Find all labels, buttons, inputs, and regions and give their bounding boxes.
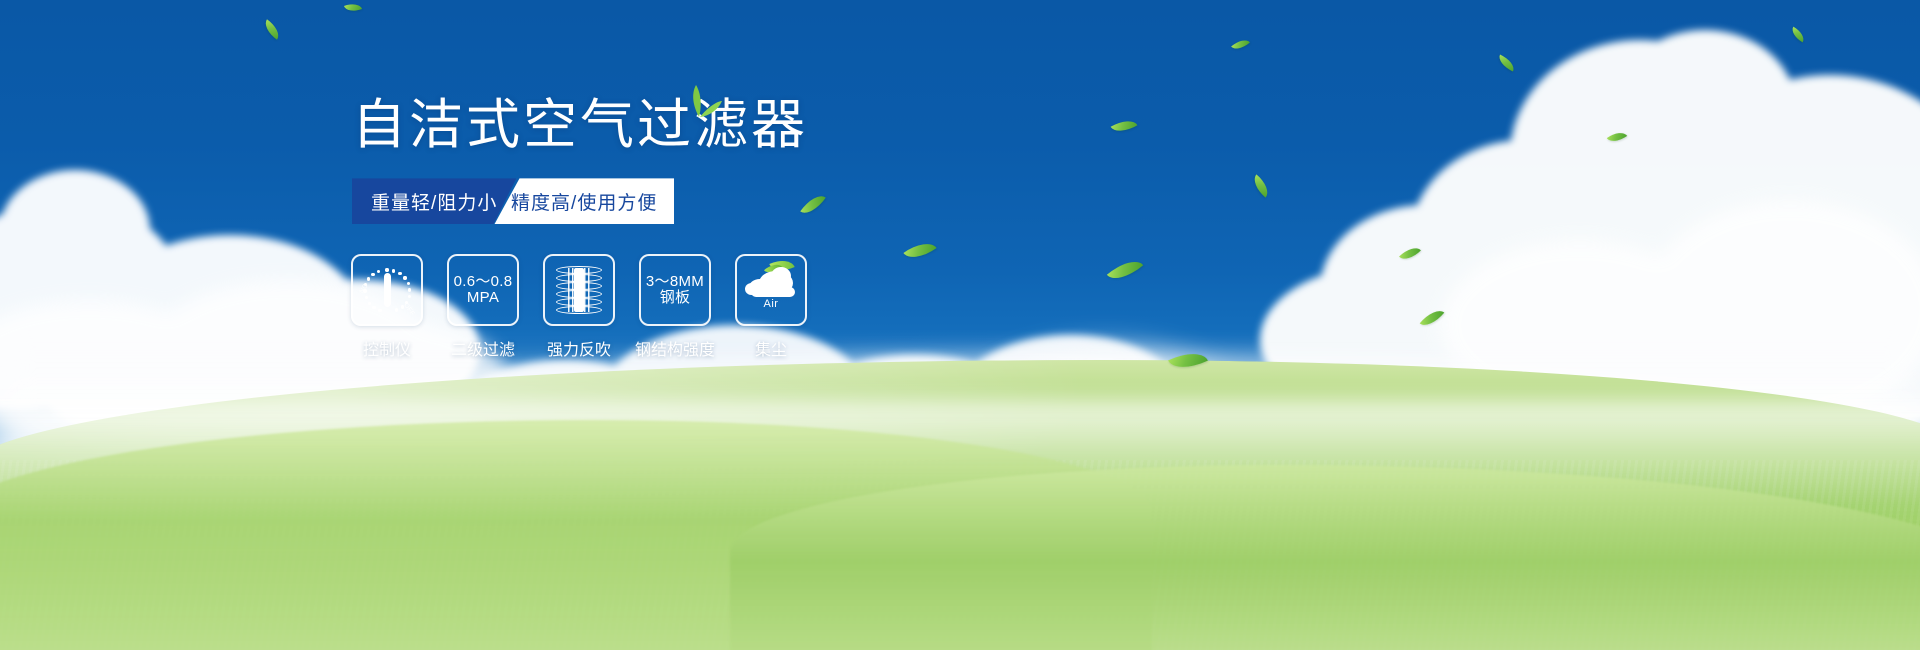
steel-value-line1: 3～8MM [646, 274, 704, 291]
feature-item-dust[interactable]: Air 集尘 [736, 254, 806, 360]
tagline-tabs: 重量轻/阻力小 精度高/使用方便 [352, 178, 674, 224]
feature-caption: 强力反吹 [547, 336, 611, 360]
banner-content: 自洁式空气过滤器 重量轻/阻力小 精度高/使用方便 [352, 96, 1072, 360]
feature-icon-box: 3～8MM 钢板 [639, 254, 711, 326]
tab-lightweight[interactable]: 重量轻/阻力小 [352, 178, 516, 224]
feature-caption: 二级过滤 [451, 336, 515, 360]
feature-caption: 控制仪 [363, 336, 411, 360]
feature-icon-box [543, 254, 615, 326]
feature-item-control[interactable]: NO OFF 控制仪 [352, 254, 422, 360]
feature-icon-box: NO OFF [351, 254, 423, 326]
feature-caption: 钢结构强度 [635, 336, 715, 360]
filter-cartridge-icon [556, 266, 602, 314]
pressure-value-line2: MPA [467, 290, 499, 307]
feature-caption: 集尘 [755, 336, 787, 360]
feature-icon-box: 0.6～0.8 MPA [447, 254, 519, 326]
feature-item-steel[interactable]: 3～8MM 钢板 钢结构强度 [640, 254, 710, 360]
tab-precision[interactable]: 精度高/使用方便 [494, 178, 674, 224]
pressure-value-line1: 0.6～0.8 [454, 274, 513, 291]
feature-list: NO OFF 控制仪 0.6～0.8 MPA 二级过滤 [352, 254, 1072, 360]
steel-value-line2: 钢板 [660, 290, 691, 307]
air-cloud-icon: Air [743, 267, 799, 313]
feature-item-blowback[interactable]: 强力反吹 [544, 254, 614, 360]
air-label: Air [764, 298, 779, 310]
feature-icon-box: Air [735, 254, 807, 326]
hero-banner: 自洁式空气过滤器 重量轻/阻力小 精度高/使用方便 [0, 0, 1920, 650]
gauge-icon: NO OFF [361, 264, 413, 316]
grass-hill-right [730, 465, 1920, 650]
title-leaf-icon [677, 84, 723, 123]
feature-item-pressure[interactable]: 0.6～0.8 MPA 二级过滤 [448, 254, 518, 360]
gauge-needle [384, 273, 391, 307]
